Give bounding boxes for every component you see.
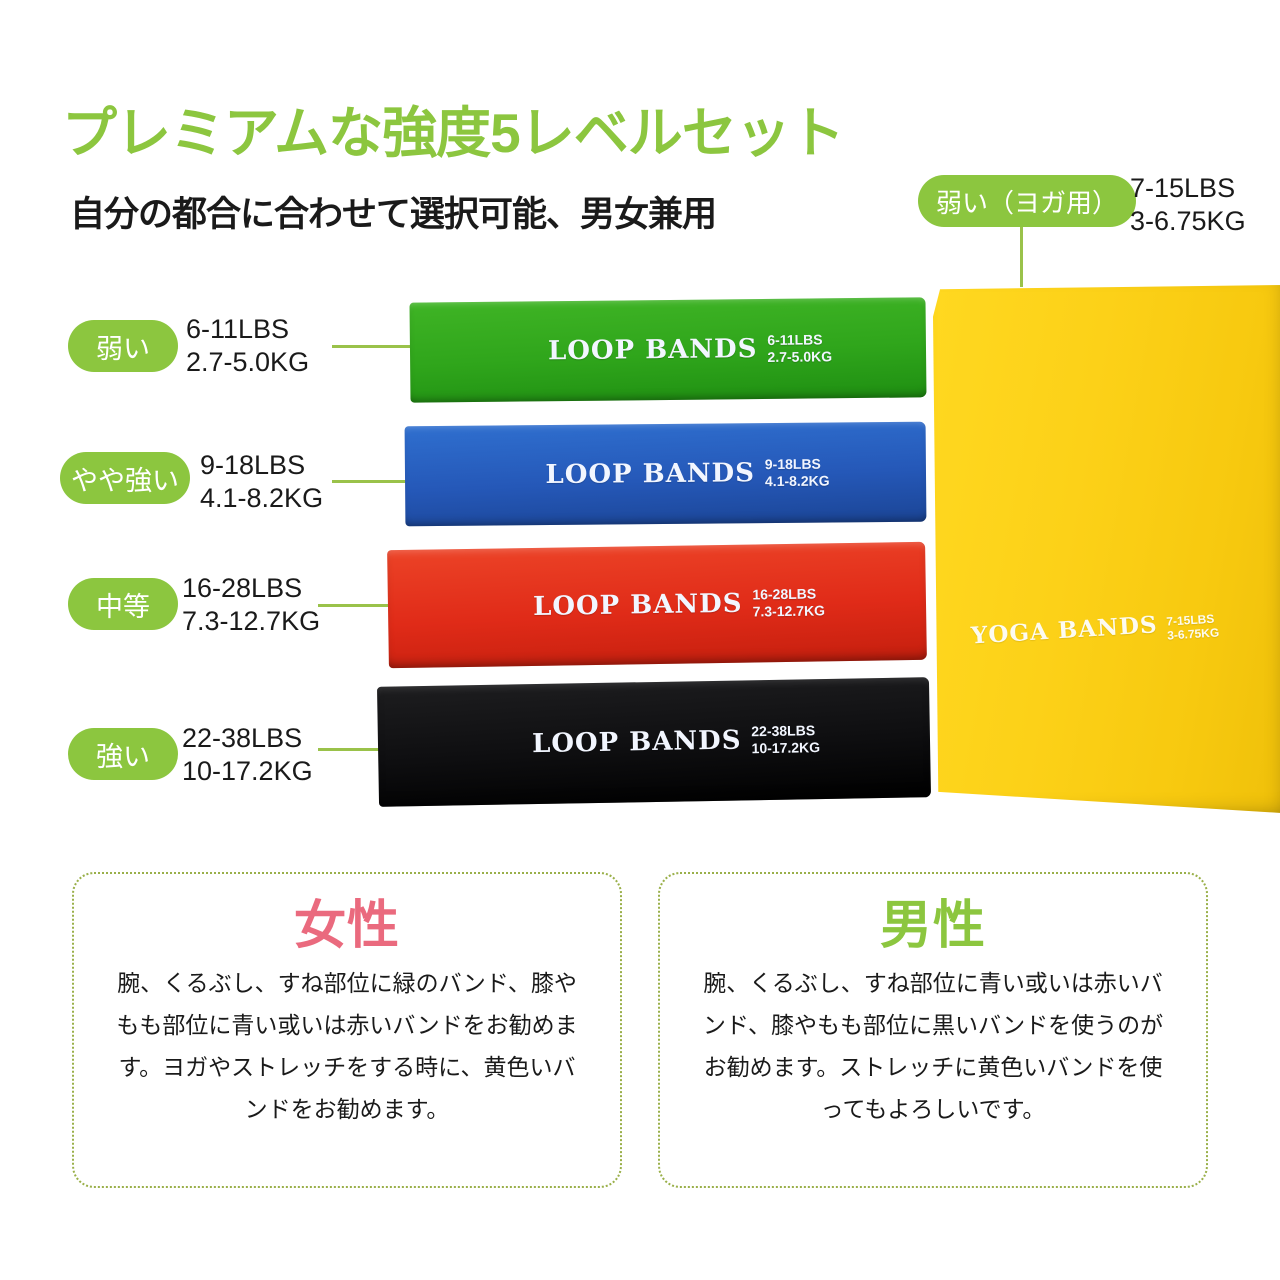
info-card-men: 男性 腕、くるぶし、すね部位に青い或いは赤いバンド、膝やもも部位に黒いバンドを使… [658, 872, 1208, 1188]
infographic-canvas: プレミアムな強度5レベルセット 自分の都合に合わせて選択可能、男女兼用 弱い（ヨ… [0, 0, 1280, 1280]
band-print-lbs-black: 22-38LBS [751, 722, 820, 740]
strength-pill-black: 強い [68, 728, 178, 780]
spec-text-blue: 9-18LBS 4.1-8.2KG [200, 449, 323, 515]
band-brand-text-red: LOOP BANDS [533, 589, 743, 622]
band-print-values-green: 6-11LBS 2.7-5.0KG [767, 331, 832, 366]
spec-kg-yellow: 3-6.75KG [1130, 205, 1246, 238]
info-card-men-body: 腕、くるぶし、すね部位に青い或いは赤いバンド、膝やもも部位に黒いバンドを使うのが… [698, 962, 1168, 1130]
resistance-band-green: LOOP BANDS 6-11LBS 2.7-5.0KG [409, 297, 926, 402]
band-print-lbs-red: 16-28LBS [752, 585, 825, 603]
spec-kg-green: 2.7-5.0KG [186, 346, 309, 379]
spec-kg-black: 10-17.2KG [182, 755, 313, 788]
spec-lbs-yellow: 7-15LBS [1130, 172, 1246, 205]
info-card-men-heading: 男性 [660, 896, 1206, 956]
info-card-women: 女性 腕、くるぶし、すね部位に緑のバンド、膝やもも部位に青い或いは赤いバンドをお… [72, 872, 622, 1188]
info-card-women-heading: 女性 [74, 896, 620, 956]
spec-lbs-blue: 9-18LBS [200, 449, 323, 482]
spec-kg-blue: 4.1-8.2KG [200, 482, 323, 515]
spec-lbs-green: 6-11LBS [186, 313, 309, 346]
band-print-kg-blue: 4.1-8.2KG [765, 473, 830, 491]
band-brand-text-black: LOOP BANDS [532, 725, 742, 759]
spec-kg-red: 7.3-12.7KG [182, 605, 320, 638]
spec-text-yellow: 7-15LBS 3-6.75KG [1130, 172, 1246, 238]
spec-text-red: 16-28LBS 7.3-12.7KG [182, 572, 320, 638]
band-print-lbs-green: 6-11LBS [767, 331, 832, 349]
band-print-kg-yellow: 3-6.75KG [1167, 625, 1220, 642]
page-subtitle: 自分の都合に合わせて選択可能、男女兼用 [70, 186, 716, 237]
resistance-band-blue: LOOP BANDS 9-18LBS 4.1-8.2KG [405, 422, 927, 527]
band-print-lbs-blue: 9-18LBS [765, 456, 830, 474]
strength-pill-green: 弱い [68, 320, 178, 372]
band-print-values-blue: 9-18LBS 4.1-8.2KG [765, 456, 830, 491]
band-brand-text-yellow: YOGA BANDS [970, 611, 1158, 649]
page-title: プレミアムな強度5レベルセット [62, 88, 844, 168]
band-brand-text-green: LOOP BANDS [548, 334, 758, 366]
band-print-black: LOOP BANDS 22-38LBS 10-17.2KG [532, 722, 820, 761]
strength-pill-blue: やや強い [60, 452, 190, 504]
info-card-women-body: 腕、くるぶし、すね部位に緑のバンド、膝やもも部位に青い或いは赤いバンドをお勧めま… [112, 962, 582, 1130]
strength-pill-red: 中等 [68, 578, 178, 630]
band-print-red: LOOP BANDS 16-28LBS 7.3-12.7KG [533, 585, 825, 624]
spec-lbs-red: 16-28LBS [182, 572, 320, 605]
connector-line-yellow [1020, 227, 1023, 287]
spec-text-green: 6-11LBS 2.7-5.0KG [186, 313, 309, 379]
band-print-kg-red: 7.3-12.7KG [753, 602, 826, 620]
band-brand-text-blue: LOOP BANDS [545, 458, 755, 490]
band-print-green: LOOP BANDS 6-11LBS 2.7-5.0KG [548, 331, 832, 368]
band-print-kg-green: 2.7-5.0KG [767, 348, 832, 366]
band-print-values-yellow: 7-15LBS 3-6.75KG [1166, 611, 1220, 642]
band-print-yellow: YOGA BANDS 7-15LBS 3-6.75KG [970, 607, 1219, 654]
resistance-band-black: LOOP BANDS 22-38LBS 10-17.2KG [377, 677, 931, 807]
band-print-values-black: 22-38LBS 10-17.2KG [751, 722, 820, 757]
spec-text-black: 22-38LBS 10-17.2KG [182, 722, 313, 788]
spec-lbs-black: 22-38LBS [182, 722, 313, 755]
band-print-kg-black: 10-17.2KG [751, 739, 820, 757]
resistance-band-red: LOOP BANDS 16-28LBS 7.3-12.7KG [387, 542, 927, 668]
strength-pill-yellow: 弱い（ヨガ用） [918, 175, 1136, 227]
band-print-values-red: 16-28LBS 7.3-12.7KG [752, 585, 825, 620]
resistance-band-yellow: YOGA BANDS 7-15LBS 3-6.75KG [933, 285, 1280, 813]
band-print-blue: LOOP BANDS 9-18LBS 4.1-8.2KG [545, 456, 829, 492]
